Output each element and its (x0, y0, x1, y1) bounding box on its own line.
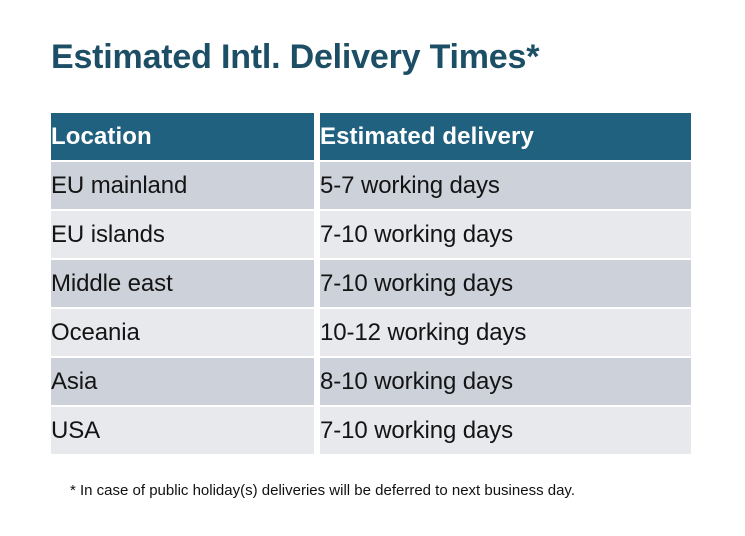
delivery-times-page: Estimated Intl. Delivery Times* Location… (0, 0, 745, 536)
cell-estimate: 7-10 working days (320, 211, 691, 258)
cell-location: Oceania (51, 309, 314, 356)
cell-estimate: 10-12 working days (320, 309, 691, 356)
footnote: * In case of public holiday(s) deliverie… (70, 481, 575, 501)
table-row: EU islands 7-10 working days (51, 211, 691, 258)
cell-location: USA (51, 407, 314, 454)
cell-estimate: 5-7 working days (320, 162, 691, 209)
table-row: USA 7-10 working days (51, 407, 691, 454)
table-header: Location Estimated delivery (51, 113, 691, 160)
cell-estimate: 7-10 working days (320, 407, 691, 454)
cell-location: EU mainland (51, 162, 314, 209)
column-header-location: Location (51, 113, 314, 160)
cell-location: Middle east (51, 260, 314, 307)
table-header-row: Location Estimated delivery (51, 113, 691, 160)
page-title: Estimated Intl. Delivery Times* (51, 36, 539, 78)
table-row: Asia 8-10 working days (51, 358, 691, 405)
table-row: EU mainland 5-7 working days (51, 162, 691, 209)
table-row: Middle east 7-10 working days (51, 260, 691, 307)
column-header-estimated-delivery: Estimated delivery (320, 113, 691, 160)
cell-estimate: 8-10 working days (320, 358, 691, 405)
cell-location: EU islands (51, 211, 314, 258)
delivery-times-table: Location Estimated delivery EU mainland … (51, 113, 691, 454)
cell-estimate: 7-10 working days (320, 260, 691, 307)
cell-location: Asia (51, 358, 314, 405)
table-row: Oceania 10-12 working days (51, 309, 691, 356)
table-body: EU mainland 5-7 working days EU islands … (51, 160, 691, 454)
